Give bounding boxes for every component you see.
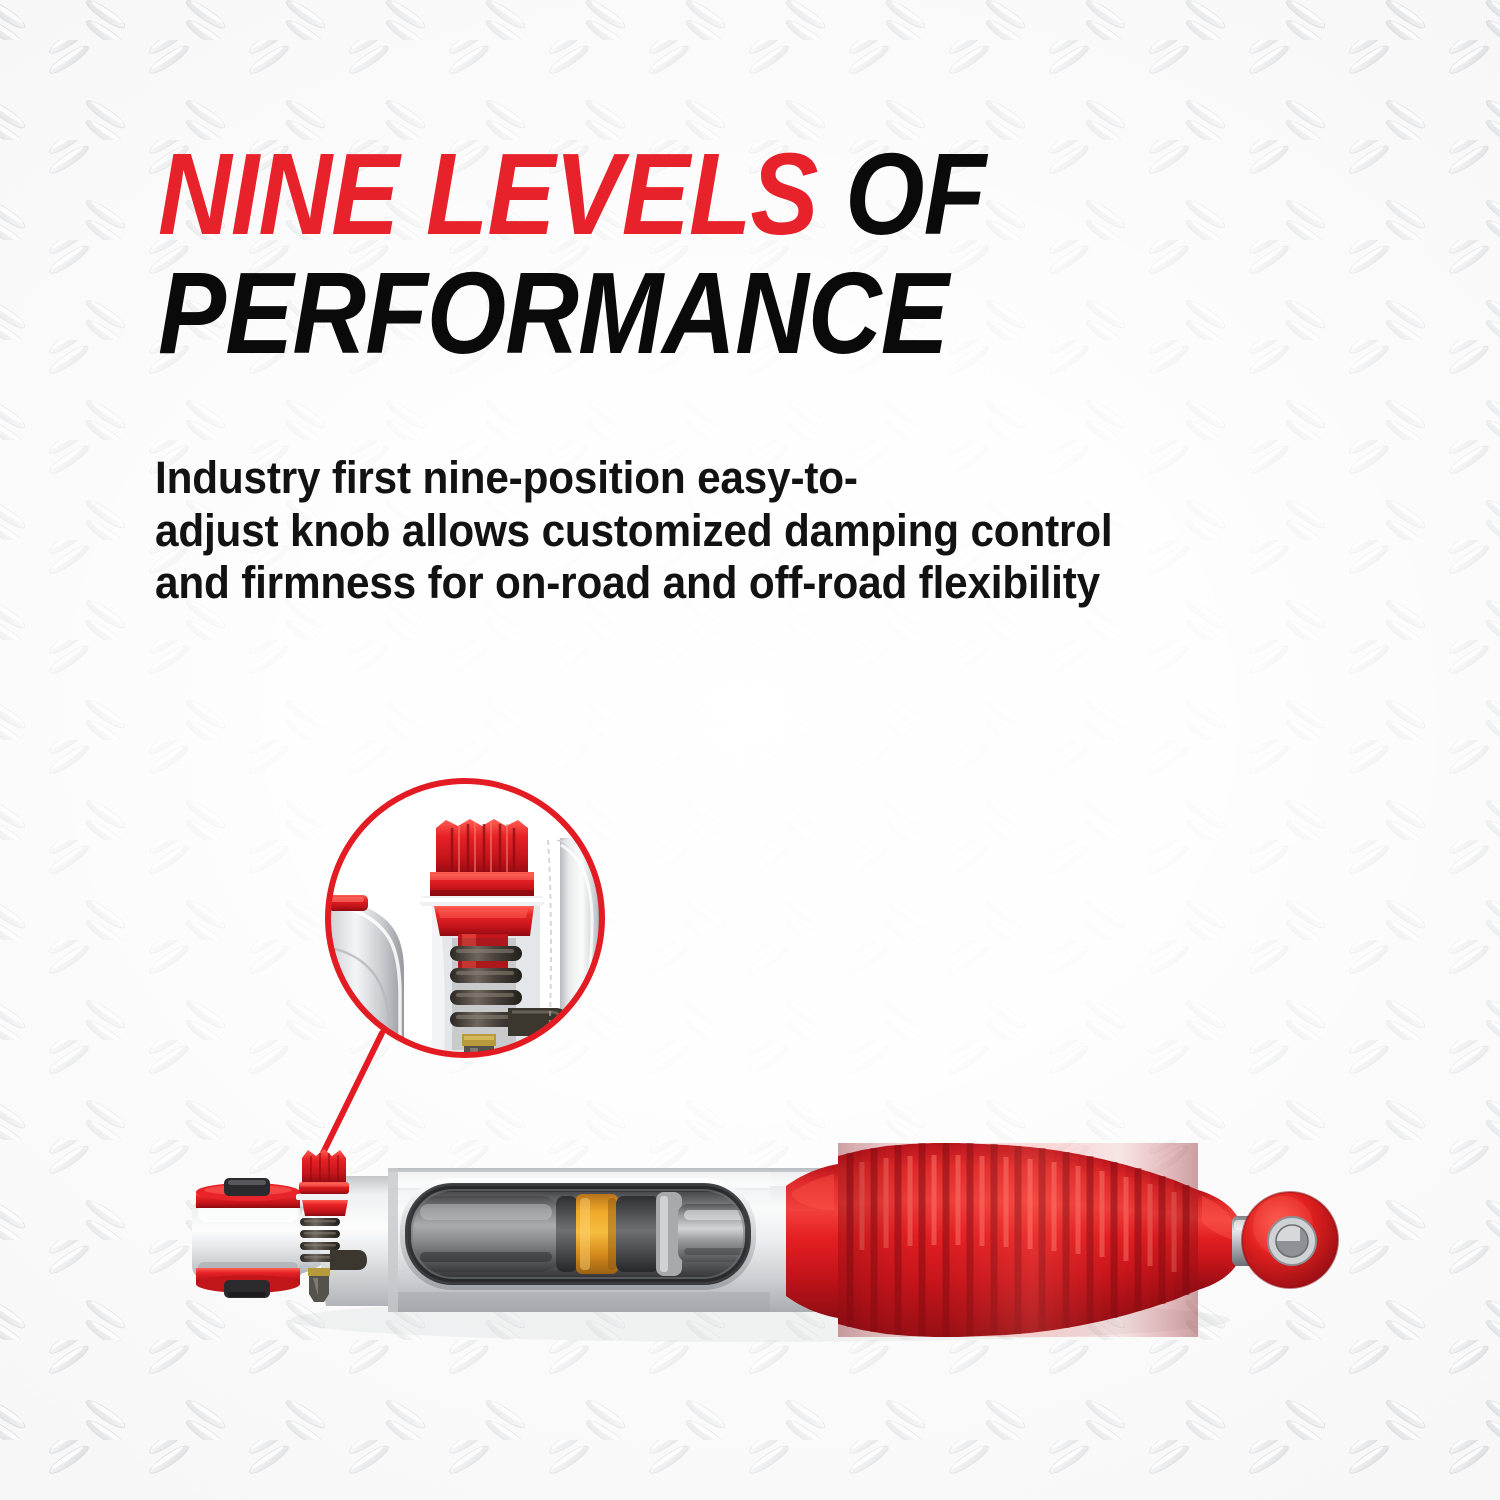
description-line-3: and firmness for on-road and off-road fl…	[155, 557, 1217, 610]
description-text: Industry first nine-position easy-to- ad…	[155, 452, 1217, 610]
product-marketing-banner: NINE LEVELS OF PERFORMANCE Industry firs…	[0, 0, 1500, 1500]
description-line-1: Industry first nine-position easy-to-	[155, 452, 1217, 505]
headline-line-1: NINE LEVELS OF	[158, 138, 1240, 251]
headline-line-1-tail: OF	[818, 129, 985, 259]
description-line-2: adjust knob allows customized damping co…	[155, 505, 1217, 558]
headline-line-2: PERFORMANCE	[158, 257, 1240, 370]
page-title: NINE LEVELS OF PERFORMANCE	[158, 138, 1388, 369]
headline-emphasis: NINE LEVELS	[158, 129, 818, 259]
